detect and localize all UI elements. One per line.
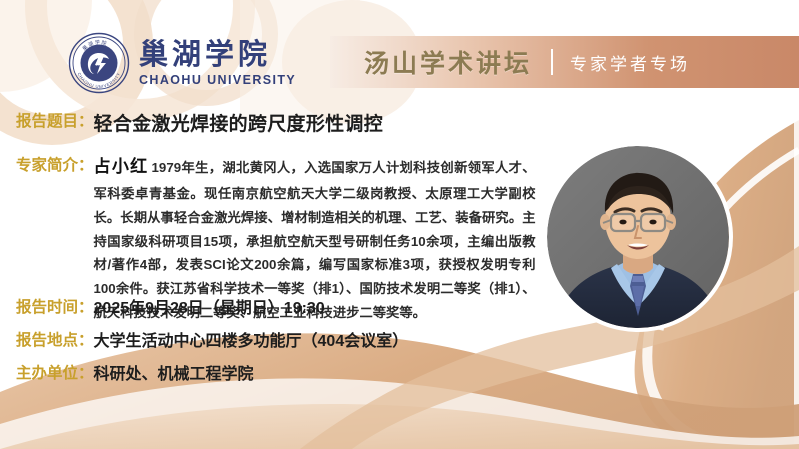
speaker-portrait-photo <box>547 146 729 328</box>
report-time-row: 报告时间： 2025年9月28日（星期日）19:30 <box>16 296 325 322</box>
report-place-label: 报告地点： <box>16 329 94 354</box>
speaker-bio-label: 专家简介： <box>16 152 94 179</box>
forum-banner: 汤山学术讲坛 专家学者专场 <box>330 36 799 88</box>
organizer-value: 科研处、机械工程学院 <box>94 362 254 388</box>
university-name-cn: 巢湖学院 <box>139 39 296 71</box>
report-place-value: 大学生活动中心四楼多功能厅（404会议室） <box>94 329 409 355</box>
university-logo: 1977 巢 湖 学 院 CHAOHU UNIVERSITY 巢湖学院 CHAO… <box>68 32 296 94</box>
organizer-label: 主办单位： <box>16 362 94 387</box>
university-name-en: CHAOHU UNIVERSITY <box>139 73 296 87</box>
report-title-value: 轻合金激光焊接的跨尺度形性调控 <box>94 110 384 140</box>
report-title-row: 报告题目： 轻合金激光焊接的跨尺度形性调控 <box>16 110 383 140</box>
speaker-name: 占小红 <box>94 157 149 176</box>
forum-title: 汤山学术讲坛 <box>364 44 532 80</box>
university-logo-text: 巢湖学院 CHAOHU UNIVERSITY <box>139 39 296 88</box>
university-seal-icon: 1977 巢 湖 学 院 CHAOHU UNIVERSITY <box>68 32 130 94</box>
svg-text:1977: 1977 <box>95 63 103 67</box>
forum-subtitle: 专家学者专场 <box>570 50 690 75</box>
report-time-value: 2025年9月28日（星期日）19:30 <box>94 296 325 322</box>
report-time-label: 报告时间： <box>16 296 94 321</box>
organizer-row: 主办单位： 科研处、机械工程学院 <box>16 362 254 388</box>
report-place-row: 报告地点： 大学生活动中心四楼多功能厅（404会议室） <box>16 329 408 355</box>
banner-divider <box>551 49 553 75</box>
report-title-label: 报告题目： <box>16 110 94 135</box>
poster-canvas: 1977 巢 湖 学 院 CHAOHU UNIVERSITY 巢湖学院 CHAO… <box>0 0 799 449</box>
